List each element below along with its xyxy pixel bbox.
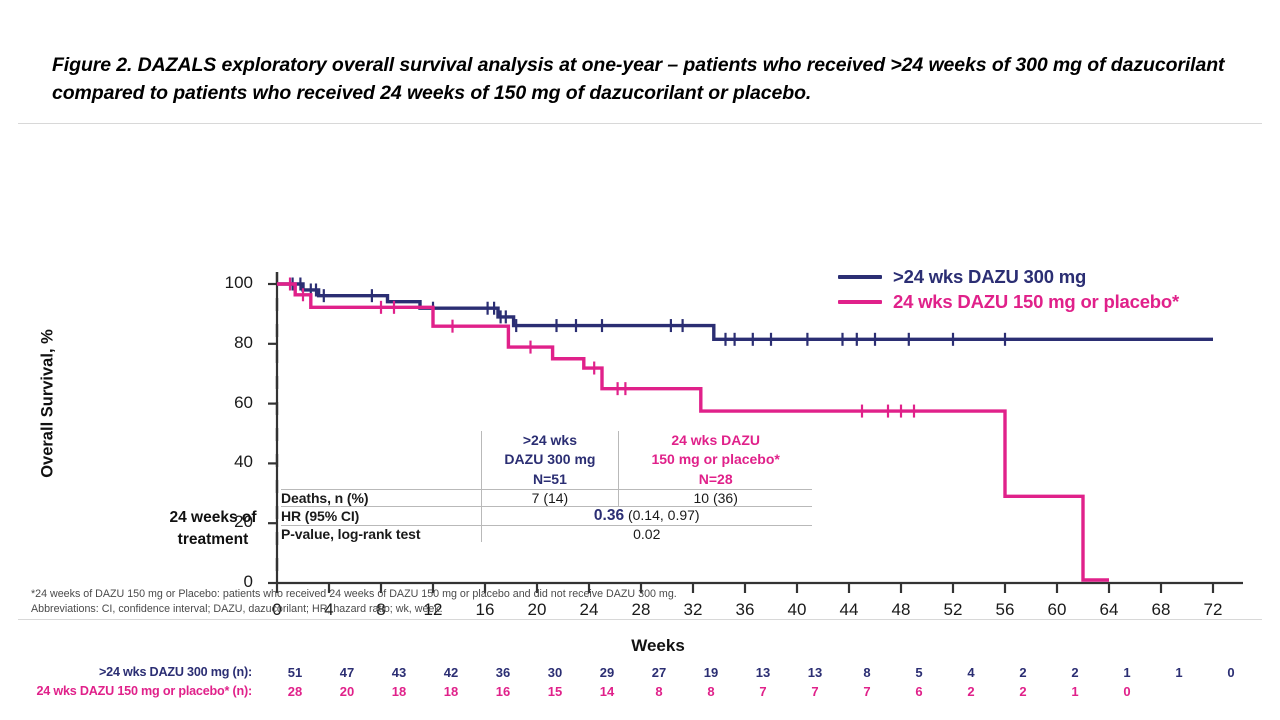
risk-row-label-pink: 24 wks DAZU 150 mg or placebo* (n):	[36, 684, 252, 698]
y-tick-label-40: 40	[207, 452, 253, 472]
y-tick-label-80: 80	[207, 333, 253, 353]
legend-item-pink: 24 wks DAZU 150 mg or placebo*	[838, 289, 1179, 314]
x-tick-label-60: 60	[1037, 600, 1077, 620]
table-row: P-value, log-rank test 0.02	[281, 525, 812, 542]
x-tick-label-44: 44	[829, 600, 869, 620]
footnote-asterisk: *24 weeks of DAZU 150 mg or Placebo: pat…	[31, 587, 677, 602]
risk-value: 13	[798, 665, 832, 680]
col1-header-line3: N=51	[482, 470, 619, 489]
x-tick-label-52: 52	[933, 600, 973, 620]
hr-confidence-interval: (0.14, 0.97)	[628, 507, 700, 523]
risk-value: 7	[798, 684, 832, 699]
deaths-col2-value: 10 (36)	[619, 489, 812, 506]
figure-page: Figure 2. DAZALS exploratory overall sur…	[0, 0, 1280, 720]
stats-table-col2-header: 24 wks DAZU 150 mg or placebo* N=28	[619, 431, 812, 489]
stats-table-col1-header: >24 wks DAZU 300 mg N=51	[481, 431, 619, 489]
x-tick-label-64: 64	[1089, 600, 1129, 620]
x-tick-label-72: 72	[1193, 600, 1233, 620]
risk-value: 51	[278, 665, 312, 680]
col2-header-line1: 24 wks DAZU	[619, 431, 812, 450]
hr-label: HR (95% CI)	[281, 506, 481, 525]
hr-value: 0.36 (0.14, 0.97)	[481, 506, 812, 525]
x-tick-label-32: 32	[673, 600, 713, 620]
figure-title: Figure 2. DAZALS exploratory overall sur…	[52, 52, 1257, 107]
treatment-annotation-line2: treatment	[138, 529, 288, 551]
x-tick-label-40: 40	[777, 600, 817, 620]
legend-swatch-pink	[838, 300, 882, 304]
risk-value: 36	[486, 665, 520, 680]
risk-value: 2	[1006, 665, 1040, 680]
stats-table: >24 wks DAZU 300 mg N=51 24 wks DAZU 150…	[281, 431, 812, 542]
footnote-abbreviations: Abbreviations: CI, confidence interval; …	[31, 602, 677, 617]
risk-value: 8	[694, 684, 728, 699]
table-row: HR (95% CI) 0.36 (0.14, 0.97)	[281, 506, 812, 525]
deaths-label: Deaths, n (%)	[281, 489, 481, 506]
risk-table: >24 wks DAZU 300 mg (n):5147434236302927…	[18, 665, 1280, 707]
footnotes: *24 weeks of DAZU 150 mg or Placebo: pat…	[31, 587, 677, 617]
y-axis-title: Overall Survival, %	[39, 294, 58, 514]
risk-value: 6	[902, 684, 936, 699]
risk-value: 18	[382, 684, 416, 699]
risk-value: 43	[382, 665, 416, 680]
risk-value: 2	[954, 684, 988, 699]
risk-value: 1	[1058, 684, 1092, 699]
risk-value: 29	[590, 665, 624, 680]
risk-value: 13	[746, 665, 780, 680]
risk-value: 7	[746, 684, 780, 699]
y-tick-label-60: 60	[207, 393, 253, 413]
risk-value: 15	[538, 684, 572, 699]
risk-value: 16	[486, 684, 520, 699]
risk-value: 0	[1110, 684, 1144, 699]
risk-value: 47	[330, 665, 364, 680]
col2-header-line3: N=28	[619, 470, 812, 489]
pvalue-value: 0.02	[481, 525, 812, 542]
legend-swatch-blue	[838, 275, 882, 279]
legend-label-pink: 24 wks DAZU 150 mg or placebo*	[893, 291, 1179, 313]
risk-value: 18	[434, 684, 468, 699]
treatment-annotation: 24 weeks of treatment	[138, 507, 288, 551]
deaths-col1-value: 7 (14)	[481, 489, 619, 506]
risk-value: 30	[538, 665, 572, 680]
risk-value: 27	[642, 665, 676, 680]
legend: >24 wks DAZU 300 mg 24 wks DAZU 150 mg o…	[838, 264, 1179, 314]
x-tick-label-68: 68	[1141, 600, 1181, 620]
x-tick-label-56: 56	[985, 600, 1025, 620]
figure-panel: 0204060801000481216202428323640444852566…	[18, 123, 1262, 620]
risk-value: 8	[642, 684, 676, 699]
legend-label-blue: >24 wks DAZU 300 mg	[893, 266, 1086, 288]
y-tick-label-100: 100	[207, 273, 253, 293]
legend-item-blue: >24 wks DAZU 300 mg	[838, 264, 1179, 289]
x-axis-title: Weeks	[568, 636, 748, 656]
risk-value: 20	[330, 684, 364, 699]
risk-value: 19	[694, 665, 728, 680]
col1-header-line2: DAZU 300 mg	[482, 450, 619, 469]
risk-value: 14	[590, 684, 624, 699]
risk-value: 2	[1006, 684, 1040, 699]
pvalue-label: P-value, log-rank test	[281, 525, 481, 542]
hr-point-estimate: 0.36	[594, 507, 624, 524]
table-row: Deaths, n (%) 7 (14) 10 (36)	[281, 489, 812, 506]
risk-value: 4	[954, 665, 988, 680]
risk-value: 42	[434, 665, 468, 680]
x-tick-label-36: 36	[725, 600, 765, 620]
risk-row-label-blue: >24 wks DAZU 300 mg (n):	[99, 665, 252, 679]
treatment-annotation-line1: 24 weeks of	[138, 507, 288, 529]
stats-table-header-row: >24 wks DAZU 300 mg N=51 24 wks DAZU 150…	[281, 431, 812, 489]
risk-value: 5	[902, 665, 936, 680]
risk-value: 0	[1214, 665, 1248, 680]
x-tick-label-48: 48	[881, 600, 921, 620]
risk-value: 2	[1058, 665, 1092, 680]
risk-value: 1	[1162, 665, 1196, 680]
risk-value: 28	[278, 684, 312, 699]
risk-value: 1	[1110, 665, 1144, 680]
col1-header-line1: >24 wks	[482, 431, 619, 450]
stats-table-corner	[281, 431, 481, 489]
risk-value: 7	[850, 684, 884, 699]
col2-header-line2: 150 mg or placebo*	[619, 450, 812, 469]
risk-value: 8	[850, 665, 884, 680]
